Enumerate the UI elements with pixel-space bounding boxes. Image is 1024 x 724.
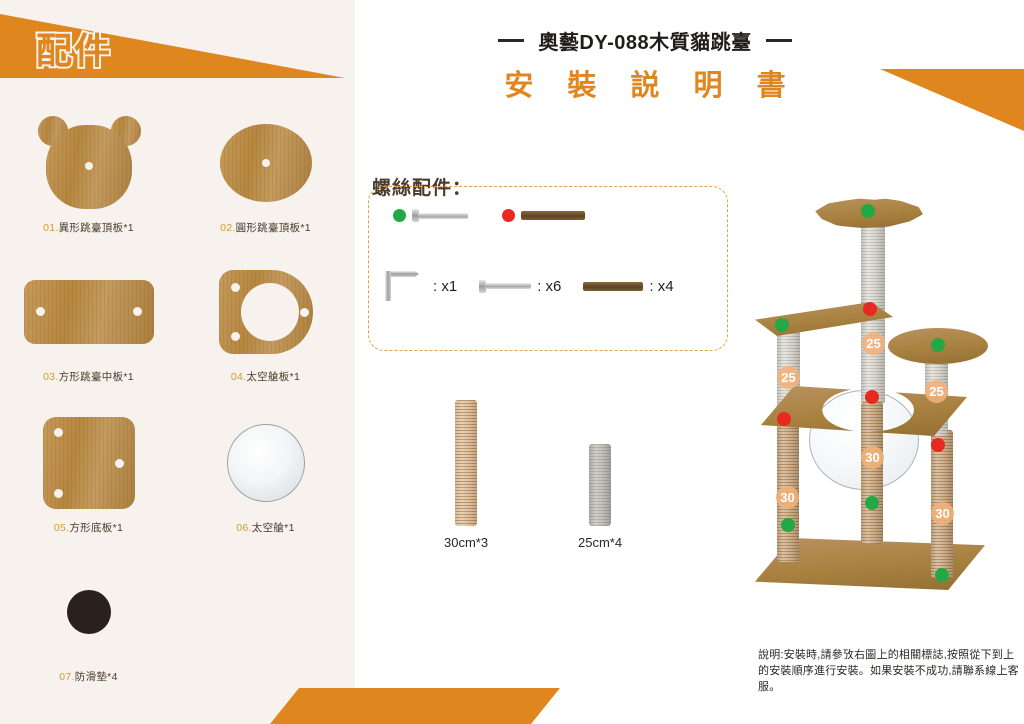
part-name-04: 太空艙板*1 (246, 371, 300, 383)
sisal-post-icon (455, 400, 477, 526)
hex-key-icon (385, 271, 427, 301)
parts-row-2: 03.方形跳臺中板*1 04.太空艙板*1 (0, 261, 355, 384)
post-parts-section: 30cm*3 25cm*4 (430, 400, 690, 560)
part-number-05: 05. (54, 522, 70, 534)
silver-screw-icon (412, 209, 468, 222)
part-number-07: 07. (59, 671, 75, 683)
hex-key-group: : x1 (385, 271, 457, 301)
assembly-diagram: 30 30 30 25 25 25 (745, 190, 1024, 620)
page-title: 奧藝DY-088木質貓跳臺 (538, 26, 751, 55)
marker-green-base-center (865, 496, 879, 510)
part-label-03: 03.方形跳臺中板*1 (43, 369, 134, 384)
screw-legend-row (393, 209, 585, 222)
brown-screw-icon (521, 211, 585, 220)
marker-green-base-right (935, 568, 949, 582)
part-number-02: 02. (220, 222, 236, 234)
part-number-04: 04. (231, 371, 247, 383)
red-marker-icon (502, 209, 515, 222)
page-subtitle: 安 裝 説 明 書 (355, 62, 935, 104)
part-name-01: 異形跳臺頂板*1 (59, 222, 134, 234)
part-name-06: 太空艙*1 (252, 522, 295, 534)
manual-page: 配件 配件 01.異形跳臺頂板*1 (0, 0, 1024, 724)
post-item-25cm: 25cm*4 (578, 444, 622, 550)
part-label-05: 05.方形底板*1 (54, 520, 123, 535)
hex-key-qty: : x1 (433, 278, 457, 295)
part-name-03: 方形跳臺中板*1 (59, 371, 134, 383)
dash-left-icon (498, 39, 524, 42)
parts-row-3: 05.方形底板*1 06.太空艙*1 (0, 412, 355, 535)
part-item-04: 04.太空艙板*1 (177, 261, 354, 384)
part-name-02: 圓形跳臺頂板*1 (236, 222, 311, 234)
marker-green-middle-board (775, 318, 789, 332)
part-number-06: 06. (236, 522, 252, 534)
parts-row-1: 01.異形跳臺頂板*1 02.圓形跳臺頂板*1 (0, 112, 355, 235)
brown-screw-icon-2 (583, 282, 643, 291)
size-badge-upper-center: 25 (862, 332, 885, 355)
anti-slip-pad-icon (67, 561, 111, 663)
part-item-07: 07.防滑墊*4 (0, 561, 177, 684)
screw-legend-green (393, 209, 468, 222)
part-number-03: 03. (43, 371, 59, 383)
size-badge-lower-right: 30 (931, 502, 954, 525)
screw-quantity-row: : x1 : x6 : x4 (385, 271, 674, 301)
marker-red-capsule-left (777, 412, 791, 426)
marker-green-round-top (931, 338, 945, 352)
round-top-board-icon (220, 112, 312, 214)
part-item-05: 05.方形底板*1 (0, 412, 177, 535)
brown-screw-qty: : x4 (649, 278, 673, 295)
post-label-25cm: 25cm*4 (578, 535, 622, 550)
part-label-06: 06.太空艙*1 (236, 520, 294, 535)
screw-legend-red (502, 209, 585, 222)
screw-parts-box: : x1 : x6 : x4 (368, 186, 728, 351)
part-name-07: 防滑墊*4 (75, 671, 118, 683)
rectangular-middle-board-icon (24, 261, 154, 363)
parts-panel: 配件 配件 01.異形跳臺頂板*1 (0, 0, 355, 724)
marker-red-capsule-right (931, 438, 945, 452)
title-row: 奧藝DY-088木質貓跳臺 (355, 26, 935, 55)
part-item-06: 06.太空艙*1 (177, 412, 354, 535)
bottom-parallelogram-decor (270, 688, 560, 724)
plush-post-icon (589, 444, 611, 526)
part-label-02: 02.圓形跳臺頂板*1 (220, 220, 311, 235)
size-badge-lower-left: 30 (776, 486, 799, 509)
marker-green-base-left (781, 518, 795, 532)
part-item-01: 01.異形跳臺頂板*1 (0, 112, 177, 235)
space-capsule-board-icon (219, 261, 313, 363)
part-label-04: 04.太空艙板*1 (231, 369, 300, 384)
silver-screw-icon-2 (479, 280, 531, 293)
parts-grid: 01.異形跳臺頂板*1 02.圓形跳臺頂板*1 (0, 112, 355, 684)
size-badge-lower-center: 30 (861, 446, 884, 469)
marker-red-middle-board (863, 302, 877, 316)
dash-right-icon (766, 39, 792, 42)
post-item-30cm: 30cm*3 (444, 400, 488, 550)
banner-title: 配件 (36, 22, 112, 74)
marker-green-bear-top (861, 204, 875, 218)
square-base-board-icon (43, 412, 135, 514)
silver-screw-group: : x6 (479, 278, 561, 295)
size-badge-upper-right: 25 (925, 380, 948, 403)
size-badge-upper-left: 25 (777, 366, 800, 389)
instruction-note: 說明:安裝時,請參攷右圖上的相關標誌,按照從下到上的安裝順序進行安裝。如果安裝不… (758, 648, 1020, 696)
brown-screw-group: : x4 (583, 278, 673, 295)
manual-header: 奧藝DY-088木質貓跳臺 安 裝 説 明 書 (355, 0, 1024, 115)
part-label-01: 01.異形跳臺頂板*1 (43, 220, 134, 235)
part-item-03: 03.方形跳臺中板*1 (0, 261, 177, 384)
marker-red-capsule-center (865, 390, 879, 404)
part-name-05: 方形底板*1 (69, 522, 123, 534)
space-capsule-dome-icon (227, 412, 305, 514)
green-marker-icon (393, 209, 406, 222)
parts-grid-spacer (177, 561, 354, 684)
part-number-01: 01. (43, 222, 59, 234)
part-label-07: 07.防滑墊*4 (59, 669, 117, 684)
silver-screw-qty: : x6 (537, 278, 561, 295)
bear-shaped-top-board-icon (33, 112, 145, 214)
part-item-02: 02.圓形跳臺頂板*1 (177, 112, 354, 235)
post-label-30cm: 30cm*3 (444, 535, 488, 550)
parts-row-4: 07.防滑墊*4 (0, 561, 355, 684)
